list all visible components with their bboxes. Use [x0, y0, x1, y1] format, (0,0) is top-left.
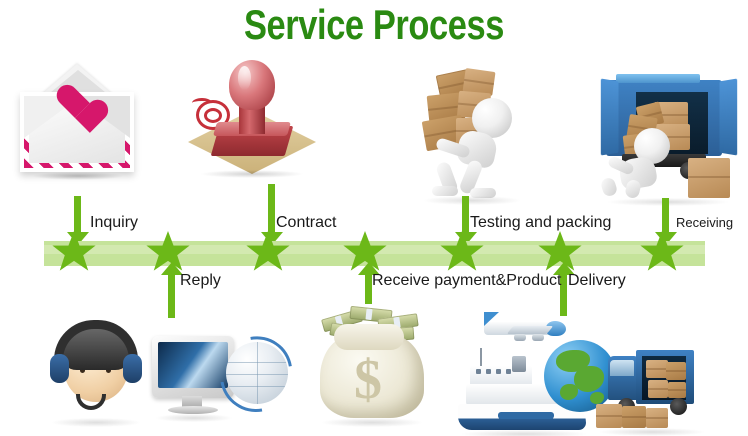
headset-band-icon — [54, 320, 138, 360]
container-door-right — [720, 78, 738, 155]
ship-shadow — [462, 430, 586, 436]
truck-unloading-icon — [592, 74, 742, 202]
envelope-shadow — [32, 172, 124, 180]
stamp-handle — [229, 60, 275, 110]
step-label-reply: Reply — [180, 272, 221, 290]
figure-shadow — [424, 196, 520, 205]
plane-wing — [507, 326, 554, 334]
ship-hull-stripe — [498, 412, 554, 419]
ship-mast — [480, 348, 482, 368]
rubber-stamp-icon — [188, 58, 316, 180]
ship-window — [506, 369, 511, 374]
box — [648, 380, 668, 398]
ship-window — [476, 369, 481, 374]
delivery-truck-icon — [608, 348, 704, 432]
plane-engine — [532, 334, 544, 341]
container-door-left — [601, 78, 619, 155]
ship-window — [486, 369, 491, 374]
stamp-mark-inner — [204, 108, 222, 123]
box-on-ground — [646, 408, 668, 428]
plane-tail-fin — [484, 312, 499, 326]
agent-with-headset — [48, 318, 144, 418]
envelope-heart-icon — [14, 62, 140, 174]
ship-funnel — [512, 356, 526, 372]
support-agent-icon — [48, 312, 298, 430]
headset-earcup-right — [123, 354, 142, 383]
earth-globe-icon — [544, 340, 616, 412]
globe-network-icon — [216, 334, 298, 416]
headset-earcup-left — [50, 354, 69, 383]
cash-band — [365, 309, 372, 321]
step-label-delivery: Delivery — [568, 272, 626, 290]
globe-landmass — [590, 392, 604, 404]
truck-windshield — [610, 360, 634, 376]
carrying-boxes-icon — [418, 70, 528, 200]
box — [668, 382, 686, 398]
container-roof — [616, 74, 700, 83]
heart-icon — [56, 86, 96, 122]
globe-arrow-bottom — [206, 326, 306, 426]
connector-stem-receive-payment — [365, 272, 372, 304]
dollar-sign-icon: $ — [346, 354, 390, 406]
bag-shadow — [322, 418, 422, 427]
box-on-ground — [622, 406, 646, 428]
figure-foot-front — [432, 186, 458, 196]
service-process-infographic: Service Process — [0, 0, 748, 436]
stamp-highlight — [238, 66, 251, 90]
step-label-inquiry: Inquiry — [90, 214, 138, 232]
truck-wheel — [670, 398, 687, 415]
page-title: Service Process — [67, 2, 680, 48]
bag-neck — [334, 324, 404, 350]
figure-leg-front — [600, 176, 619, 197]
box-on-ground — [688, 158, 730, 198]
step-label-testing-packing: Testing and packing — [470, 214, 611, 232]
globe-landmass — [560, 384, 578, 400]
connector-stem-contract — [268, 184, 275, 238]
step-label-receive-payment: Receive payment&Product — [372, 272, 561, 290]
box-on-ground — [596, 404, 622, 428]
agent-shadow — [52, 418, 140, 427]
box — [646, 360, 668, 378]
logistics-shipping-icon — [452, 312, 702, 432]
plane-engine — [514, 334, 526, 341]
step-label-contract: Contract — [276, 214, 336, 232]
monitor-base — [168, 406, 218, 414]
truck-shadow — [600, 428, 704, 436]
globe-landmass — [574, 366, 604, 392]
stamp-shadow — [200, 170, 304, 178]
box — [666, 362, 686, 380]
money-bag-icon: $ — [312, 306, 432, 430]
step-label-receiving: Receiving — [676, 214, 733, 232]
headset-mic-icon — [76, 394, 106, 410]
ship-window — [496, 369, 501, 374]
